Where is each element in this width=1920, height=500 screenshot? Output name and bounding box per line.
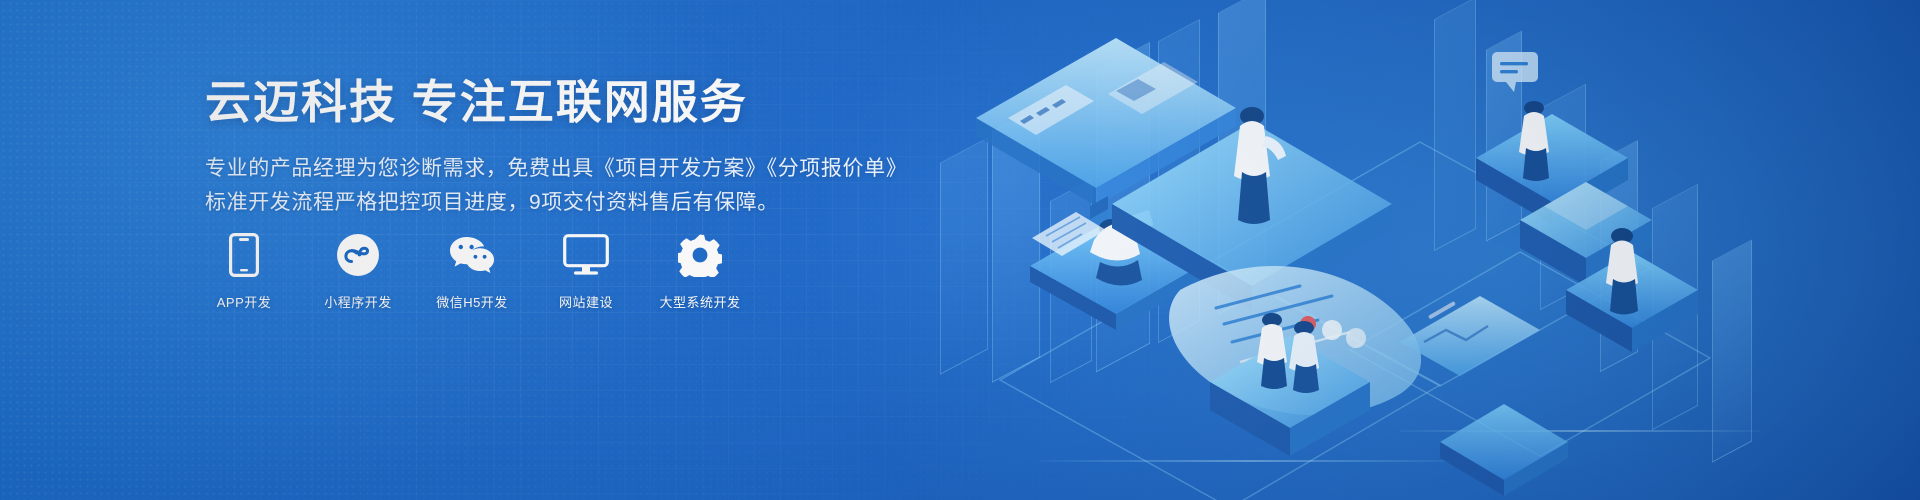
service-item-wechat-h5[interactable]: 微信H5开发: [433, 232, 511, 311]
service-icon-list: APP开发 小程序开发: [205, 232, 739, 311]
monitor-icon: [563, 232, 609, 278]
banner-subline-1: 专业的产品经理为您诊断需求，免费出具《项目开发方案》《分项报价单》: [205, 152, 905, 186]
gear-icon: [677, 232, 723, 278]
service-label: 微信H5开发: [436, 292, 508, 311]
banner-subline-2: 标准开发流程严格把控项目进度，9项交付资料售后有保障。: [205, 186, 905, 220]
service-item-app[interactable]: APP开发: [205, 232, 283, 311]
service-item-large-system[interactable]: 大型系统开发: [661, 232, 739, 311]
service-label: 网站建设: [559, 292, 613, 311]
service-label: 大型系统开发: [660, 292, 741, 311]
mini-program-icon: [335, 232, 381, 278]
banner-headline: 云迈科技 专注互联网服务: [205, 78, 905, 126]
service-item-mini-program[interactable]: 小程序开发: [319, 232, 397, 311]
service-label: 小程序开发: [324, 292, 392, 311]
banner-copy: 云迈科技 专注互联网服务 专业的产品经理为您诊断需求，免费出具《项目开发方案》《…: [205, 78, 905, 220]
mobile-phone-icon: [221, 232, 267, 278]
service-item-website[interactable]: 网站建设: [547, 232, 625, 311]
wechat-icon: [449, 232, 495, 278]
hero-illustration: [880, 0, 1920, 500]
background-towers: [900, 0, 1920, 500]
hero-banner: 云迈科技 专注互联网服务 专业的产品经理为您诊断需求，免费出具《项目开发方案》《…: [0, 0, 1920, 500]
service-label: APP开发: [217, 292, 272, 311]
